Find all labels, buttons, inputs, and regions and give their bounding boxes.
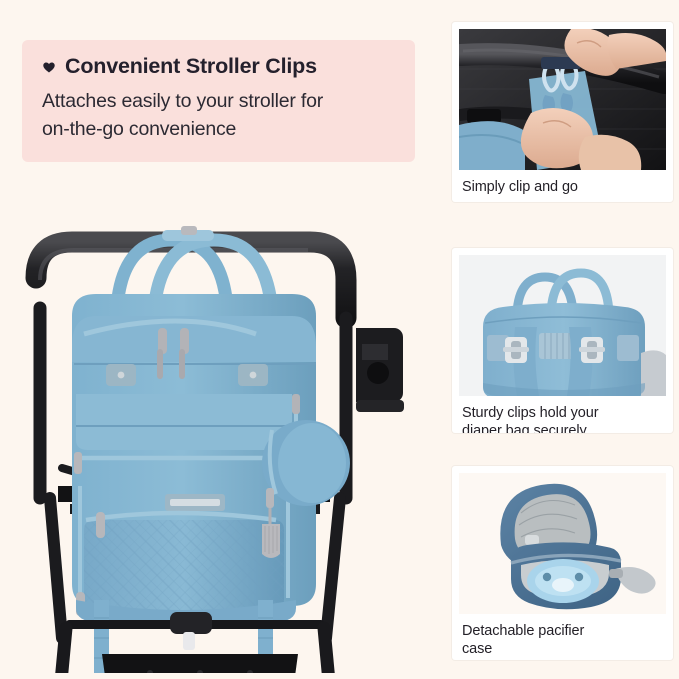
hero-photo [10,168,430,673]
caption-line-2: case [462,641,492,657]
product-feature-panel: Convenient Stroller Clips Attaches easil… [0,0,679,679]
feature-card-pacifier-case: Detachable pacifier case [452,466,673,660]
feature-subtitle-line-2: on-the-go convenience [42,118,236,140]
cup-holder [356,328,404,412]
feature-title: Convenient Stroller Clips [65,54,317,79]
sturdy-clips-photo [459,255,666,396]
feature-subtitle-line-1: Attaches easily to your stroller for [42,90,323,112]
buckle-right [579,337,605,363]
sturdy-clips-illustration [459,255,666,396]
feature-card-clip-and-go: Simply clip and go [452,22,673,202]
feature-subtitle: Attaches easily to your stroller for on-… [42,88,395,143]
caption-line-1: Sturdy clips hold your [462,405,598,421]
caption-line-1: Detachable pacifier [462,623,584,639]
clip-and-go-illustration [459,29,666,170]
caption-line-2: diaper bag securely [462,423,587,433]
clip-and-go-caption: Simply clip and go [452,170,673,197]
pacifier-case-photo [459,473,666,614]
pacifier-case-illustration [459,473,666,614]
hero-illustration [10,168,430,673]
feature-callout-header: Convenient Stroller Clips [42,54,395,79]
pacifier-case-caption: Detachable pacifier case [452,614,673,658]
heart-icon [42,60,56,74]
case-base [511,542,621,609]
clip-and-go-photo [459,29,666,170]
caption-line-1: Simply clip and go [462,179,578,195]
sturdy-clips-caption: Sturdy clips hold your diaper bag secure… [452,396,673,433]
buckle-left [503,337,529,363]
feature-callout: Convenient Stroller Clips Attaches easil… [22,40,415,162]
feature-card-sturdy-clips: Sturdy clips hold your diaper bag secure… [452,248,673,433]
